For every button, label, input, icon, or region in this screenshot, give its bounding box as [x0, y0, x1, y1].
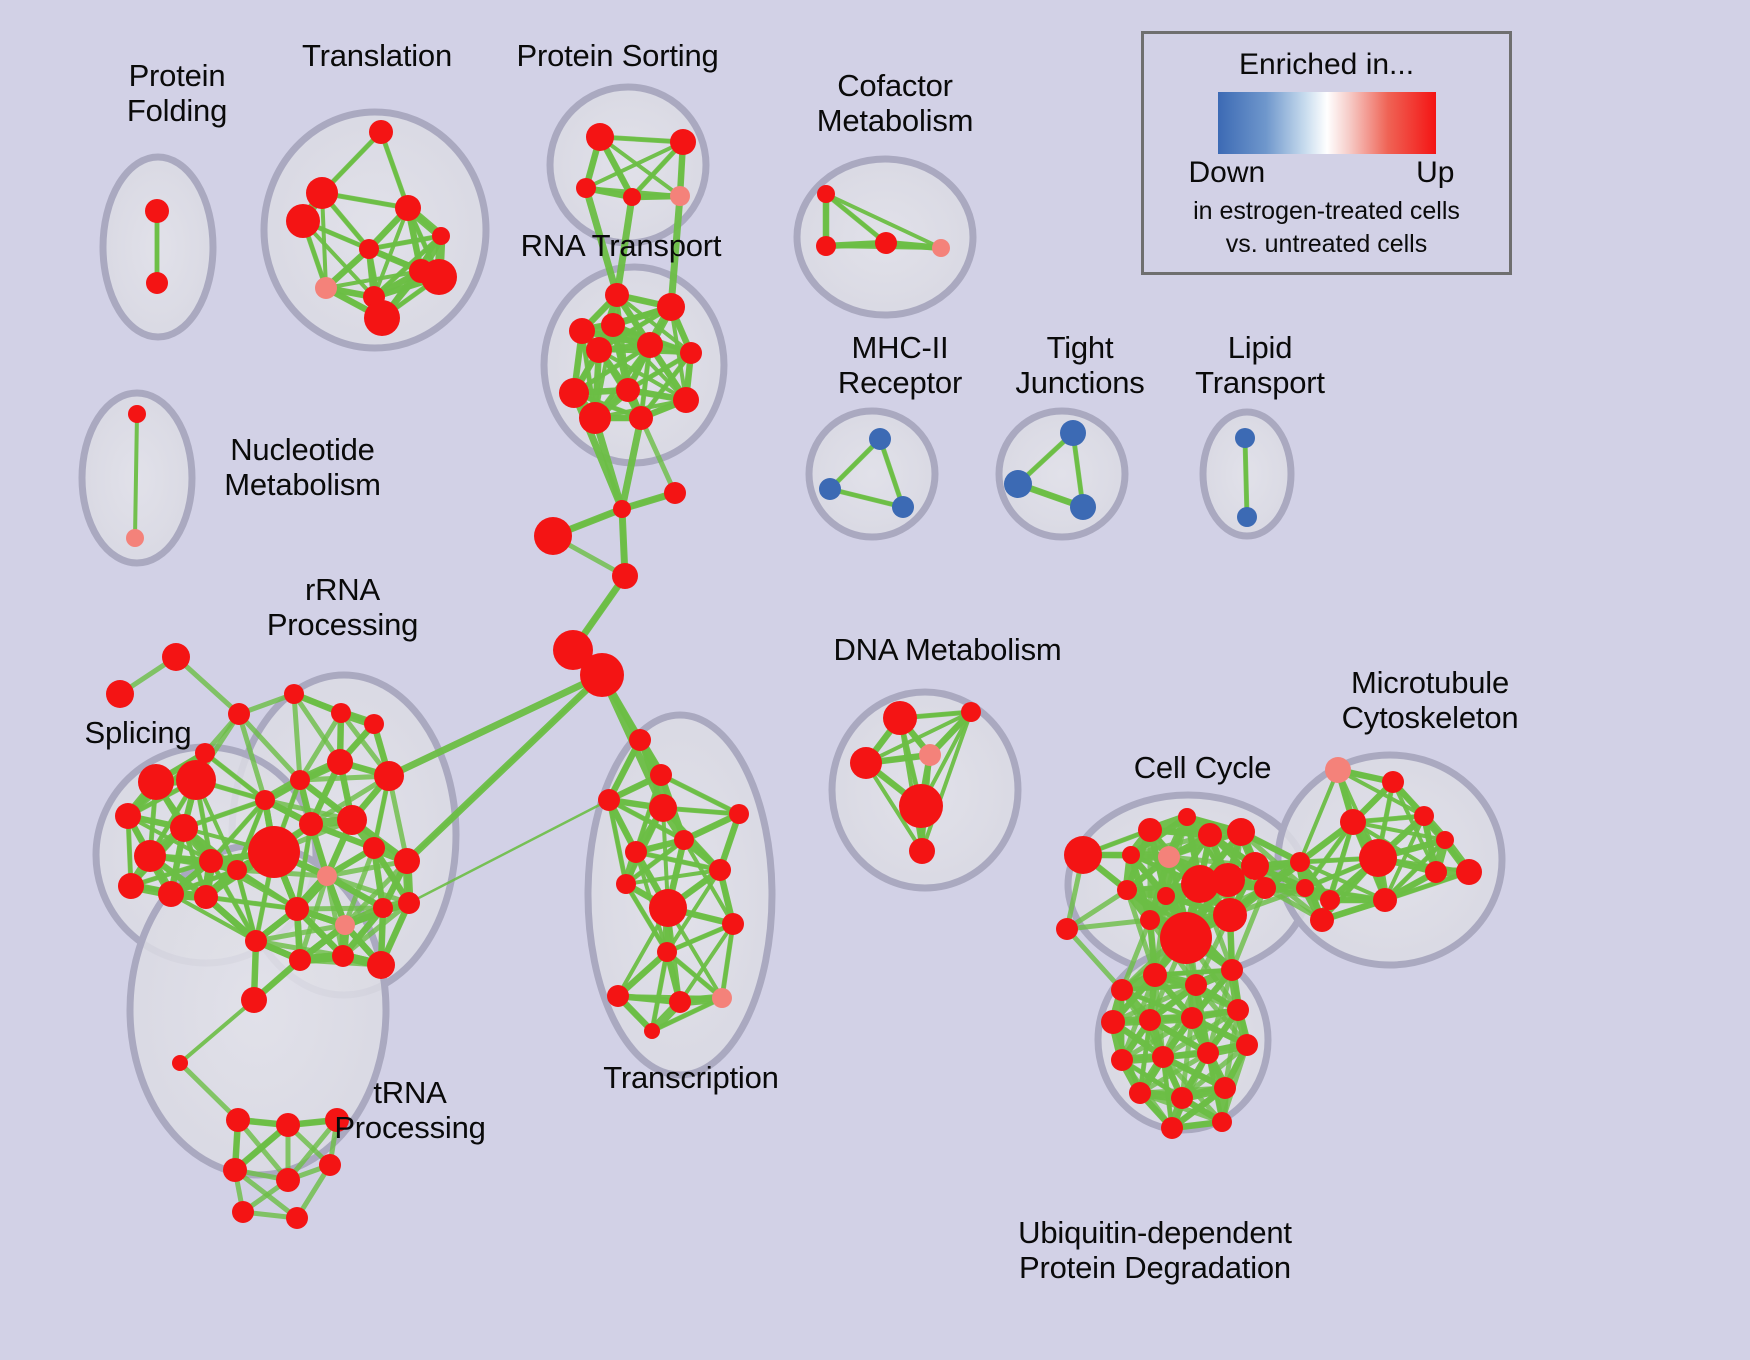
network-node[interactable]	[664, 482, 686, 504]
network-node[interactable]	[1290, 852, 1310, 872]
network-node[interactable]	[1056, 918, 1078, 940]
network-node[interactable]	[629, 729, 651, 751]
cluster-label-mhc-ii-receptor: MHC-II Receptor	[800, 330, 1000, 400]
network-node[interactable]	[364, 714, 384, 734]
cluster-label-trna-processing: tRNA Processing	[310, 1075, 510, 1145]
network-node[interactable]	[909, 838, 935, 864]
network-node[interactable]	[649, 794, 677, 822]
cluster-ellipse-mhc-ii-receptor	[809, 411, 935, 537]
network-node[interactable]	[315, 277, 337, 299]
network-node[interactable]	[722, 913, 744, 935]
network-node[interactable]	[649, 889, 687, 927]
network-node[interactable]	[176, 760, 216, 800]
network-node[interactable]	[290, 770, 310, 790]
network-node[interactable]	[598, 789, 620, 811]
network-node[interactable]	[613, 500, 631, 518]
network-node[interactable]	[932, 239, 950, 257]
network-node[interactable]	[369, 120, 393, 144]
network-node[interactable]	[1143, 963, 1167, 987]
network-node[interactable]	[255, 790, 275, 810]
network-node[interactable]	[1456, 859, 1482, 885]
network-node[interactable]	[398, 892, 420, 914]
network-node[interactable]	[1227, 999, 1249, 1021]
network-node[interactable]	[670, 186, 690, 206]
network-node[interactable]	[1178, 808, 1196, 826]
cluster-label-protein-folding: Protein Folding	[82, 58, 272, 128]
network-node[interactable]	[607, 985, 629, 1007]
cluster-label-cofactor-metabolism: Cofactor Metabolism	[785, 68, 1005, 138]
network-node[interactable]	[332, 945, 354, 967]
network-node[interactable]	[892, 496, 914, 518]
network-node[interactable]	[1414, 806, 1434, 826]
network-node[interactable]	[1359, 839, 1397, 877]
network-node[interactable]	[579, 402, 611, 434]
network-node[interactable]	[299, 812, 323, 836]
network-node[interactable]	[1221, 959, 1243, 981]
network-node[interactable]	[276, 1168, 300, 1192]
network-node[interactable]	[1064, 836, 1102, 874]
network-node[interactable]	[335, 915, 355, 935]
cluster-label-splicing: Splicing	[58, 715, 218, 750]
network-node[interactable]	[199, 849, 223, 873]
network-node[interactable]	[616, 874, 636, 894]
legend-down-label: Down	[1189, 156, 1266, 190]
network-node[interactable]	[367, 951, 395, 979]
network-node[interactable]	[1157, 887, 1175, 905]
network-node[interactable]	[1117, 880, 1137, 900]
network-node[interactable]	[395, 195, 421, 221]
cluster-label-transcription: Transcription	[576, 1060, 806, 1095]
network-node[interactable]	[337, 805, 367, 835]
network-node[interactable]	[1425, 861, 1447, 883]
legend-endpoints: Down Up	[1193, 156, 1461, 194]
network-node[interactable]	[1140, 910, 1160, 930]
network-node[interactable]	[1214, 1077, 1236, 1099]
cluster-label-cell-cycle: Cell Cycle	[1105, 750, 1300, 785]
legend-panel: Enriched in... Down Up in estrogen-treat…	[1141, 31, 1512, 275]
network-node[interactable]	[616, 378, 640, 402]
network-node[interactable]	[1122, 846, 1140, 864]
network-node[interactable]	[106, 680, 134, 708]
network-edge	[1245, 438, 1247, 517]
network-node[interactable]	[817, 185, 835, 203]
cluster-label-microtubule-cytoskeleton: Microtubule Cytoskeleton	[1305, 665, 1555, 735]
network-node[interactable]	[576, 178, 596, 198]
network-node[interactable]	[1211, 863, 1245, 897]
network-node[interactable]	[680, 342, 702, 364]
network-node[interactable]	[816, 236, 836, 256]
network-node[interactable]	[657, 293, 685, 321]
network-node[interactable]	[586, 123, 614, 151]
network-node[interactable]	[158, 881, 184, 907]
network-node[interactable]	[285, 897, 309, 921]
network-node[interactable]	[359, 239, 379, 259]
network-node[interactable]	[284, 684, 304, 704]
cluster-label-tight-junctions: Tight Junctions	[985, 330, 1175, 400]
network-node[interactable]	[126, 529, 144, 547]
network-node[interactable]	[306, 177, 338, 209]
cluster-label-ubiquitin-protein-degradation: Ubiquitin-dependent Protein Degradation	[990, 1215, 1320, 1285]
network-node[interactable]	[245, 930, 267, 952]
network-node[interactable]	[170, 814, 198, 842]
network-node[interactable]	[637, 332, 663, 358]
network-node[interactable]	[138, 764, 174, 800]
network-node[interactable]	[115, 803, 141, 829]
network-node[interactable]	[674, 830, 694, 850]
network-node[interactable]	[1310, 908, 1334, 932]
network-node[interactable]	[850, 747, 882, 779]
network-node[interactable]	[286, 1207, 308, 1229]
network-node[interactable]	[241, 987, 267, 1013]
network-node[interactable]	[669, 991, 691, 1013]
network-node[interactable]	[1254, 877, 1276, 899]
network-node[interactable]	[586, 337, 612, 363]
network-edge	[135, 414, 137, 538]
cluster-label-rna-transport: RNA Transport	[495, 228, 747, 263]
network-node[interactable]	[1185, 974, 1207, 996]
network-node[interactable]	[1320, 890, 1340, 910]
network-node[interactable]	[534, 517, 572, 555]
legend-caption-line2: vs. untreated cells	[1144, 229, 1509, 260]
cluster-label-protein-sorting: Protein Sorting	[495, 38, 740, 73]
network-node[interactable]	[673, 387, 699, 413]
network-node[interactable]	[276, 1113, 300, 1137]
network-node[interactable]	[248, 826, 300, 878]
network-node[interactable]	[364, 300, 400, 336]
network-node[interactable]	[961, 702, 981, 722]
network-node[interactable]	[1129, 1082, 1151, 1104]
legend-caption-line1: in estrogen-treated cells	[1144, 196, 1509, 227]
network-node[interactable]	[146, 272, 168, 294]
network-node[interactable]	[118, 873, 144, 899]
network-node[interactable]	[605, 283, 629, 307]
network-node[interactable]	[1138, 818, 1162, 842]
network-node[interactable]	[1181, 1007, 1203, 1029]
network-node[interactable]	[194, 885, 218, 909]
network-node[interactable]	[1325, 757, 1351, 783]
network-node[interactable]	[1235, 428, 1255, 448]
network-node[interactable]	[134, 840, 166, 872]
network-figure: Protein FoldingTranslationProtein Sortin…	[0, 0, 1750, 1360]
network-node[interactable]	[875, 232, 897, 254]
network-node[interactable]	[1160, 912, 1212, 964]
network-node[interactable]	[899, 784, 943, 828]
network-node[interactable]	[162, 643, 190, 671]
network-node[interactable]	[373, 898, 393, 918]
cluster-label-lipid-transport: Lipid Transport	[1165, 330, 1355, 400]
network-node[interactable]	[1111, 1049, 1133, 1071]
cluster-label-dna-metabolism: DNA Metabolism	[815, 632, 1080, 667]
cluster-label-translation: Translation	[272, 38, 482, 73]
network-node[interactable]	[1236, 1034, 1258, 1056]
network-node[interactable]	[1161, 1117, 1183, 1139]
network-node[interactable]	[363, 837, 385, 859]
network-node[interactable]	[644, 1023, 660, 1039]
network-node[interactable]	[1139, 1009, 1161, 1031]
network-node[interactable]	[1436, 831, 1454, 849]
network-node[interactable]	[712, 988, 732, 1008]
network-node[interactable]	[1158, 846, 1180, 868]
network-node[interactable]	[623, 188, 641, 206]
network-node[interactable]	[919, 744, 941, 766]
network-edge	[297, 908, 383, 909]
network-node[interactable]	[670, 129, 696, 155]
network-node[interactable]	[601, 313, 625, 337]
network-node[interactable]	[145, 199, 169, 223]
network-node[interactable]	[1070, 494, 1096, 520]
network-node[interactable]	[819, 478, 841, 500]
network-node[interactable]	[1237, 507, 1257, 527]
network-node[interactable]	[172, 1055, 188, 1071]
network-node[interactable]	[1213, 898, 1247, 932]
cluster-label-nucleotide-metabolism: Nucleotide Metabolism	[195, 432, 410, 502]
network-node[interactable]	[1373, 888, 1397, 912]
legend-up-label: Up	[1416, 156, 1454, 190]
network-node[interactable]	[883, 701, 917, 735]
network-node[interactable]	[1060, 420, 1086, 446]
network-node[interactable]	[657, 942, 677, 962]
network-node[interactable]	[559, 378, 589, 408]
network-node[interactable]	[319, 1154, 341, 1176]
network-node[interactable]	[232, 1201, 254, 1223]
network-node[interactable]	[228, 703, 250, 725]
network-node[interactable]	[317, 866, 337, 886]
network-node[interactable]	[1382, 771, 1404, 793]
legend-gradient-bar	[1218, 92, 1436, 154]
network-node[interactable]	[1197, 1042, 1219, 1064]
network-node[interactable]	[869, 428, 891, 450]
network-node[interactable]	[286, 204, 320, 238]
legend-title: Enriched in...	[1144, 48, 1509, 82]
network-node[interactable]	[327, 749, 353, 775]
network-node[interactable]	[374, 761, 404, 791]
network-node[interactable]	[432, 227, 450, 245]
network-node[interactable]	[1198, 823, 1222, 847]
network-node[interactable]	[709, 859, 731, 881]
network-node[interactable]	[580, 653, 624, 697]
network-node[interactable]	[394, 848, 420, 874]
network-node[interactable]	[1296, 879, 1314, 897]
network-node[interactable]	[625, 841, 647, 863]
cluster-label-rrna-processing: rRNA Processing	[240, 572, 445, 642]
network-node[interactable]	[729, 804, 749, 824]
network-node[interactable]	[650, 764, 672, 786]
network-node[interactable]	[1152, 1046, 1174, 1068]
network-node[interactable]	[1171, 1087, 1193, 1109]
network-node[interactable]	[223, 1158, 247, 1182]
network-node[interactable]	[226, 1108, 250, 1132]
network-node[interactable]	[1212, 1112, 1232, 1132]
network-node[interactable]	[1227, 818, 1255, 846]
network-node[interactable]	[1111, 979, 1133, 1001]
network-node[interactable]	[289, 949, 311, 971]
network-node[interactable]	[1340, 809, 1366, 835]
network-node[interactable]	[331, 703, 351, 723]
network-node[interactable]	[227, 860, 247, 880]
network-node[interactable]	[421, 259, 457, 295]
network-node[interactable]	[128, 405, 146, 423]
network-node[interactable]	[612, 563, 638, 589]
network-node[interactable]	[629, 406, 653, 430]
network-node[interactable]	[1004, 470, 1032, 498]
network-node[interactable]	[1101, 1010, 1125, 1034]
network-node[interactable]	[1241, 852, 1269, 880]
